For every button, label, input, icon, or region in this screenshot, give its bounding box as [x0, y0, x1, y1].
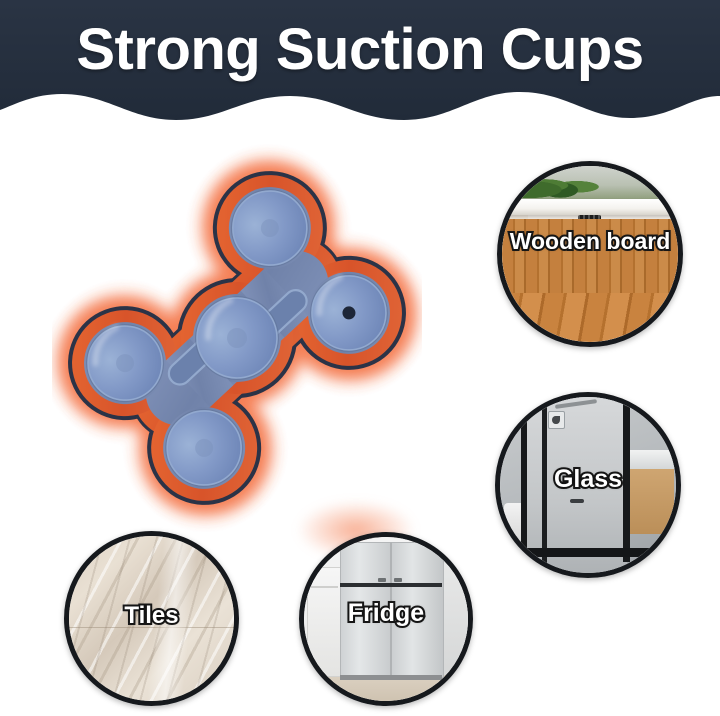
surface-label-wooden-board: Wooden board	[502, 228, 678, 255]
surface-label-fridge: Fridge	[304, 599, 468, 628]
surface-label-glass: Glass	[500, 465, 676, 494]
suction-cup-mount-graphic	[52, 128, 422, 548]
suction-cups	[70, 173, 404, 503]
surface-circle-tiles[interactable]: Tiles	[64, 531, 239, 706]
surface-circle-glass[interactable]: Glass	[495, 392, 681, 578]
product-feature-banner: Strong Suction Cups	[0, 0, 720, 716]
surface-circle-fridge[interactable]: Fridge	[299, 532, 473, 706]
surface-label-tiles: Tiles	[69, 602, 234, 630]
header-banner: Strong Suction Cups	[0, 0, 720, 128]
page-title: Strong Suction Cups	[0, 0, 720, 98]
surface-circle-wooden-board[interactable]: Wooden board	[497, 161, 683, 347]
suction-cup-mount-image	[52, 128, 422, 548]
